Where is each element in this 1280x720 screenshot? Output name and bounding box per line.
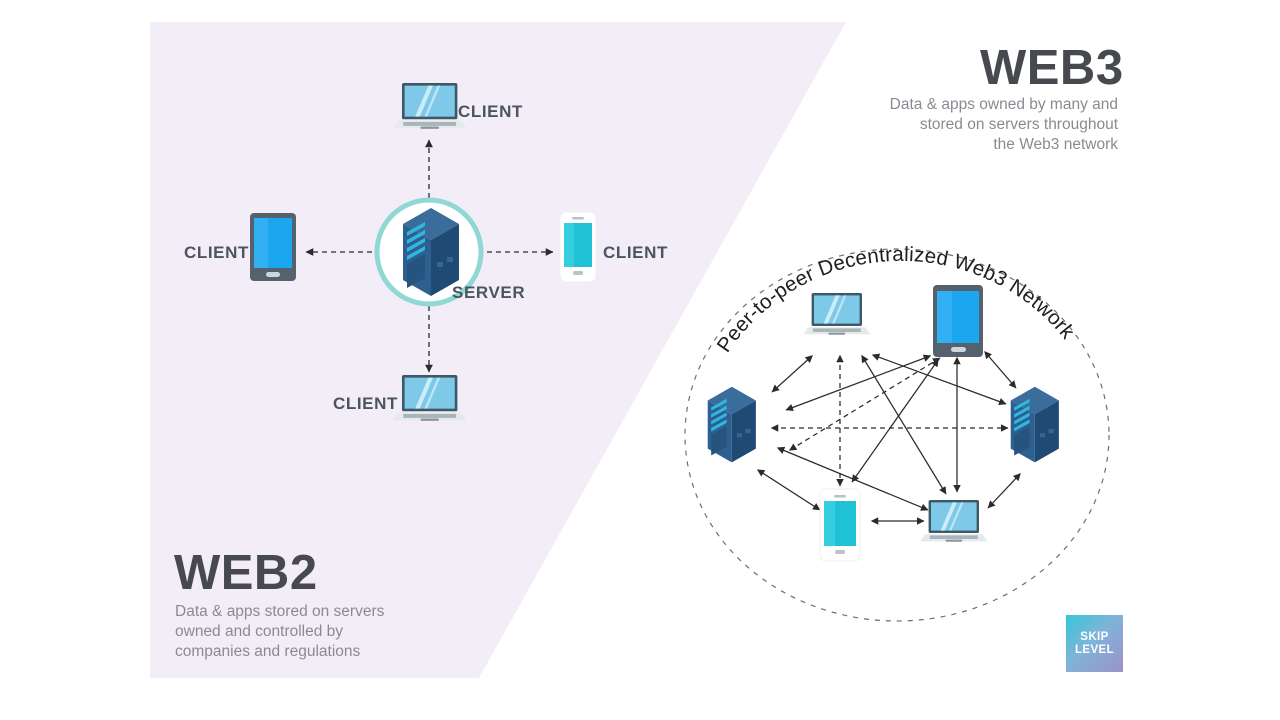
- web3-node-server-left: [708, 387, 756, 463]
- web2-client-label-left: CLIENT: [184, 243, 249, 263]
- web3-description-line-1: Data & apps owned by many and: [818, 95, 1118, 115]
- web3-description-line-3: the Web3 network: [818, 135, 1118, 155]
- web2-vs-web3-diagram: Peer-to-peer Decentralized Web3 Network: [0, 0, 1280, 720]
- web2-description-line-3: companies and regulations: [175, 642, 475, 662]
- web2-title: WEB2: [174, 545, 318, 601]
- web2-client-tablet-left: [250, 213, 296, 281]
- edge-laptoptop-serverright: [873, 355, 1006, 404]
- web2-description: Data & apps stored on servers owned and …: [175, 602, 475, 661]
- web3-description-line-2: stored on servers throughout: [818, 115, 1118, 135]
- web2-client-label-right: CLIENT: [603, 243, 668, 263]
- web2-client-label-bottom: CLIENT: [333, 394, 398, 414]
- web2-client-laptop-bottom: [393, 375, 467, 421]
- logo-line-skip: SKIP: [1080, 631, 1108, 643]
- web3-node-tablet-top: [933, 285, 983, 357]
- web2-description-line-2: owned and controlled by: [175, 622, 475, 642]
- web3-node-laptop-bottom: [920, 500, 987, 542]
- web3-ring-label: Peer-to-peer Decentralized Web3 Network: [712, 243, 1079, 357]
- skip-level-logo: SKIP LEVEL: [1066, 615, 1123, 672]
- web2-server-icon: [403, 208, 459, 296]
- edge-tablettop-phonebottom: [852, 360, 938, 482]
- edge-serverleft-phonebottom: [758, 470, 820, 510]
- logo-line-level: LEVEL: [1075, 644, 1114, 656]
- web3-description: Data & apps owned by many and stored on …: [818, 95, 1118, 154]
- web2-server-label: SERVER: [452, 283, 525, 303]
- web3-node-laptop-top: [803, 293, 870, 335]
- web3-node-phone-bottom: [820, 489, 860, 561]
- edge-serverright-laptopbottom: [988, 474, 1020, 508]
- edge-tablettop-serverright: [985, 352, 1016, 388]
- web2-description-line-1: Data & apps stored on servers: [175, 602, 475, 622]
- web2-client-laptop-top: [393, 83, 467, 129]
- web3-mesh-solid: [758, 352, 1020, 521]
- web2-client-phone-right: [560, 212, 596, 282]
- web3-mesh-dashed: [772, 356, 1008, 486]
- web3-node-server-right: [1011, 387, 1059, 463]
- web3-title: WEB3: [980, 40, 1124, 96]
- edge-laptoptop-serverleft: [772, 356, 812, 392]
- web2-client-label-top: CLIENT: [458, 102, 523, 122]
